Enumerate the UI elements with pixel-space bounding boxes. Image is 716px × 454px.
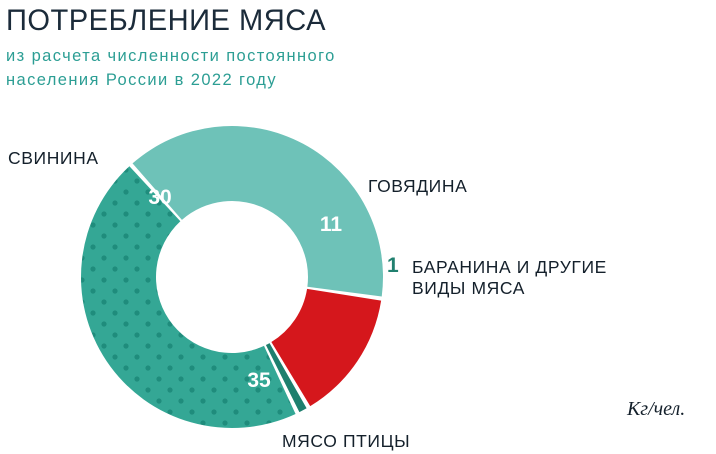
unit-note: Кг/чел. — [627, 398, 685, 421]
donut-chart-svg: 30 11 35 — [0, 0, 716, 454]
slice-value-beef: 11 — [320, 213, 343, 236]
label-mutton: БАРАНИНА И ДРУГИЕ ВИДЫ МЯСА — [412, 257, 607, 299]
label-beef: ГОВЯДИНА — [368, 176, 467, 197]
donut-slices — [81, 126, 383, 428]
label-mutton-line-2: ВИДЫ МЯСА — [412, 278, 607, 299]
slice-value-pork: 30 — [148, 186, 171, 209]
label-mutton-line-1: БАРАНИНА И ДРУГИЕ — [412, 257, 607, 278]
donut-chart: 30 11 35 — [0, 0, 716, 454]
slice-value-poultry: 35 — [247, 369, 271, 392]
label-poultry: МЯСО ПТИЦЫ — [282, 431, 410, 452]
label-pork: СВИНИНА — [8, 148, 99, 169]
infographic-canvas: ПОТРЕБЛЕНИЕ МЯСА из расчета численности … — [0, 0, 716, 454]
slice-value-mutton: 1 — [387, 254, 399, 278]
